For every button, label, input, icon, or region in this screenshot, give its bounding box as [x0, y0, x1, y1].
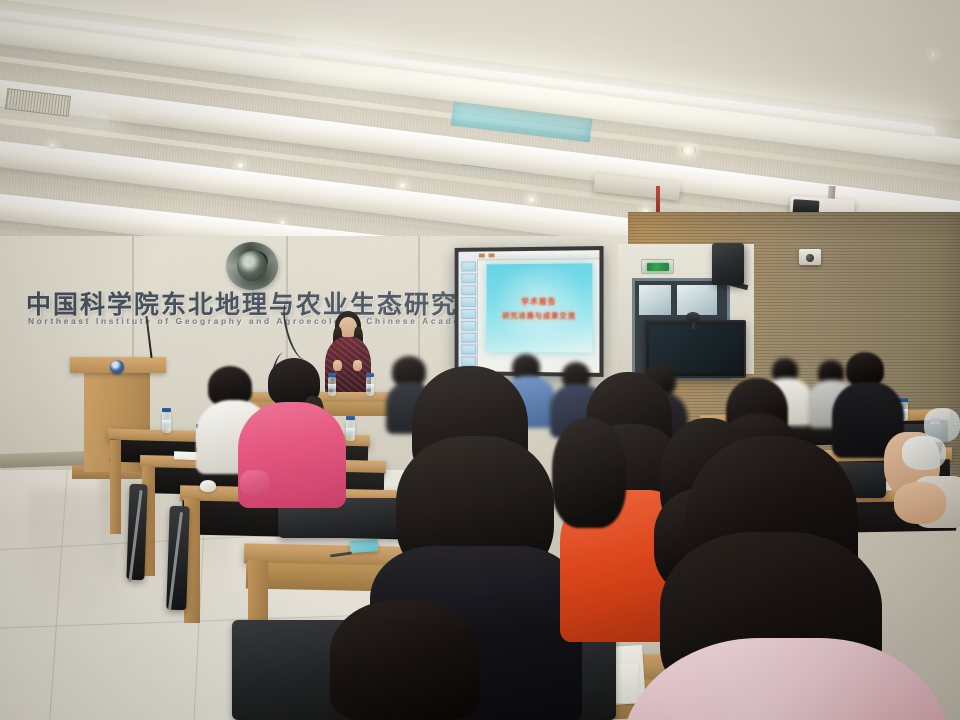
water-bottle [328, 377, 336, 396]
lecture-hall-photo: 中国科学院东北地理与农业生态研究所 Northeast Institute of… [0, 0, 960, 720]
notebook-teal[interactable] [350, 539, 379, 553]
attendee-hair [330, 600, 480, 720]
bottle-cap [162, 408, 171, 412]
toolbar-icon[interactable] [479, 254, 485, 258]
current-slide: 学术报告 研究进展与成果交流 [487, 263, 593, 352]
slide-thumbnail[interactable] [461, 345, 476, 355]
sprinkler-pipe [656, 186, 660, 212]
ceiling-downlight [930, 52, 936, 58]
slide-thumbnail[interactable] [461, 333, 476, 343]
bottle-cap [346, 416, 355, 420]
slide-thumbnail[interactable] [461, 309, 476, 319]
floor-reflection [30, 490, 120, 620]
slide-thumbnail[interactable] [461, 273, 476, 283]
slide-thumbnail[interactable] [461, 321, 476, 331]
bottle-label [162, 420, 171, 425]
bottle-cap [328, 373, 336, 377]
ceiling-downlight [528, 196, 535, 203]
ceiling-downlight [399, 182, 406, 189]
exit-sign [641, 259, 674, 274]
cas-institute-logo-icon [226, 242, 278, 290]
water-bottle [366, 377, 374, 396]
exit-sign-lamp [647, 263, 669, 271]
computer-mouse[interactable] [200, 481, 216, 492]
ceiling-downlight [237, 162, 244, 169]
slide-thumbnail[interactable] [461, 285, 476, 295]
ceiling-downlight [681, 146, 696, 155]
door-window-pane [677, 285, 717, 315]
water-bottle [346, 420, 355, 441]
slide-thumbnail[interactable] [461, 356, 476, 366]
bottle-label [366, 384, 374, 389]
ceiling-downlight [140, 110, 145, 115]
water-bottle [162, 412, 171, 433]
camera-lens-icon [806, 254, 814, 262]
presenter-hand [333, 360, 342, 371]
bottle-label [346, 428, 355, 433]
wall-speaker [712, 243, 744, 285]
slide-title-text: 学术报告 [521, 295, 556, 306]
presentation-toolbar[interactable] [477, 250, 600, 260]
ceiling-downlight [280, 220, 285, 225]
podium-emblem-icon [110, 360, 124, 374]
slide-thumbnail[interactable] [461, 262, 476, 272]
bottle-cap [366, 373, 374, 377]
slide-thumbnail[interactable] [461, 297, 476, 307]
presenter-hand [353, 360, 362, 371]
attendee-hair [552, 418, 626, 528]
desk-leg [110, 440, 121, 534]
water-bottle [902, 436, 946, 470]
door-window-pane [639, 285, 671, 315]
slide-subtitle-text: 研究进展与成果交流 [502, 310, 576, 320]
attendee-hand [894, 482, 946, 524]
ceiling-downlight [49, 142, 56, 149]
wall-camera-icon [799, 249, 821, 265]
attendee-arm [240, 470, 270, 496]
desk-microphone [686, 312, 700, 322]
slide-thumbnail-panel [458, 252, 477, 372]
bottle-label [328, 384, 336, 389]
attendee-hair [846, 352, 884, 386]
toolbar-icon[interactable] [489, 253, 495, 257]
